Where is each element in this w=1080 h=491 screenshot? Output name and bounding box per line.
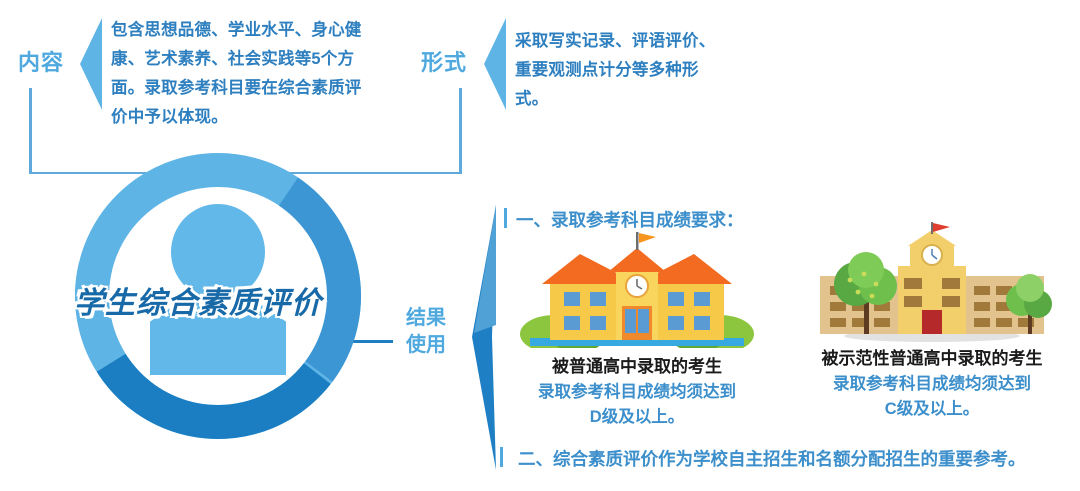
branch-text-content: 包含思想品德、学业水平、身心健康、艺术素养、社会实践等5个方面。录取参考科目要在…	[111, 16, 373, 132]
card-caption-primary: 被示范性普通高中录取的考生	[784, 346, 1080, 372]
branch-label-result-line1: 结果	[406, 305, 446, 332]
school-building-orange-icon	[492, 230, 782, 348]
branch-label-form: 形式	[421, 50, 467, 76]
card-caption-detail-line2: C级及以上。	[784, 397, 1080, 422]
page-title: 学生综合素质评价	[74, 278, 364, 322]
branch-label-content: 内容	[18, 50, 64, 76]
connector-line-left-vertical	[29, 88, 32, 174]
result-heading-one: 一、录取参考科目成绩要求：	[516, 207, 744, 232]
result-card-ordinary-school: 被普通高中录取的考生 录取参考科目成绩均须达到 D级及以上。	[492, 230, 782, 430]
branch-label-result: 结果 使用	[406, 305, 446, 359]
card-caption-detail-line1: 录取参考科目成绩均须达到	[492, 380, 782, 405]
card-caption-detail-line1: 录取参考科目成绩均须达到	[784, 372, 1080, 397]
bullet-tick-two	[500, 447, 503, 467]
left-chevron-icon-content	[80, 18, 102, 110]
infographic-canvas: 内容 包含思想品德、学业水平、身心健康、艺术素养、社会实践等5个方面。录取参考科…	[0, 0, 1080, 491]
result-heading-two: 二、综合素质评价作为学校自主招生和名额分配招生的重要参考。	[518, 446, 1026, 471]
left-chevron-icon-form	[484, 18, 506, 110]
card-caption-detail-line2: D级及以上。	[492, 405, 782, 430]
card-caption-primary: 被普通高中录取的考生	[492, 354, 782, 380]
school-building-tan-icon	[784, 222, 1080, 340]
bullet-tick-one	[504, 208, 507, 228]
result-card-model-school: 被示范性普通高中录取的考生 录取参考科目成绩均须达到 C级及以上。	[784, 222, 1080, 422]
branch-label-result-line2: 使用	[406, 332, 446, 359]
connector-line-right-vertical	[459, 88, 462, 174]
branch-text-form: 采取写实记录、评语评价、重要观测点计分等多种形式。	[515, 27, 725, 114]
